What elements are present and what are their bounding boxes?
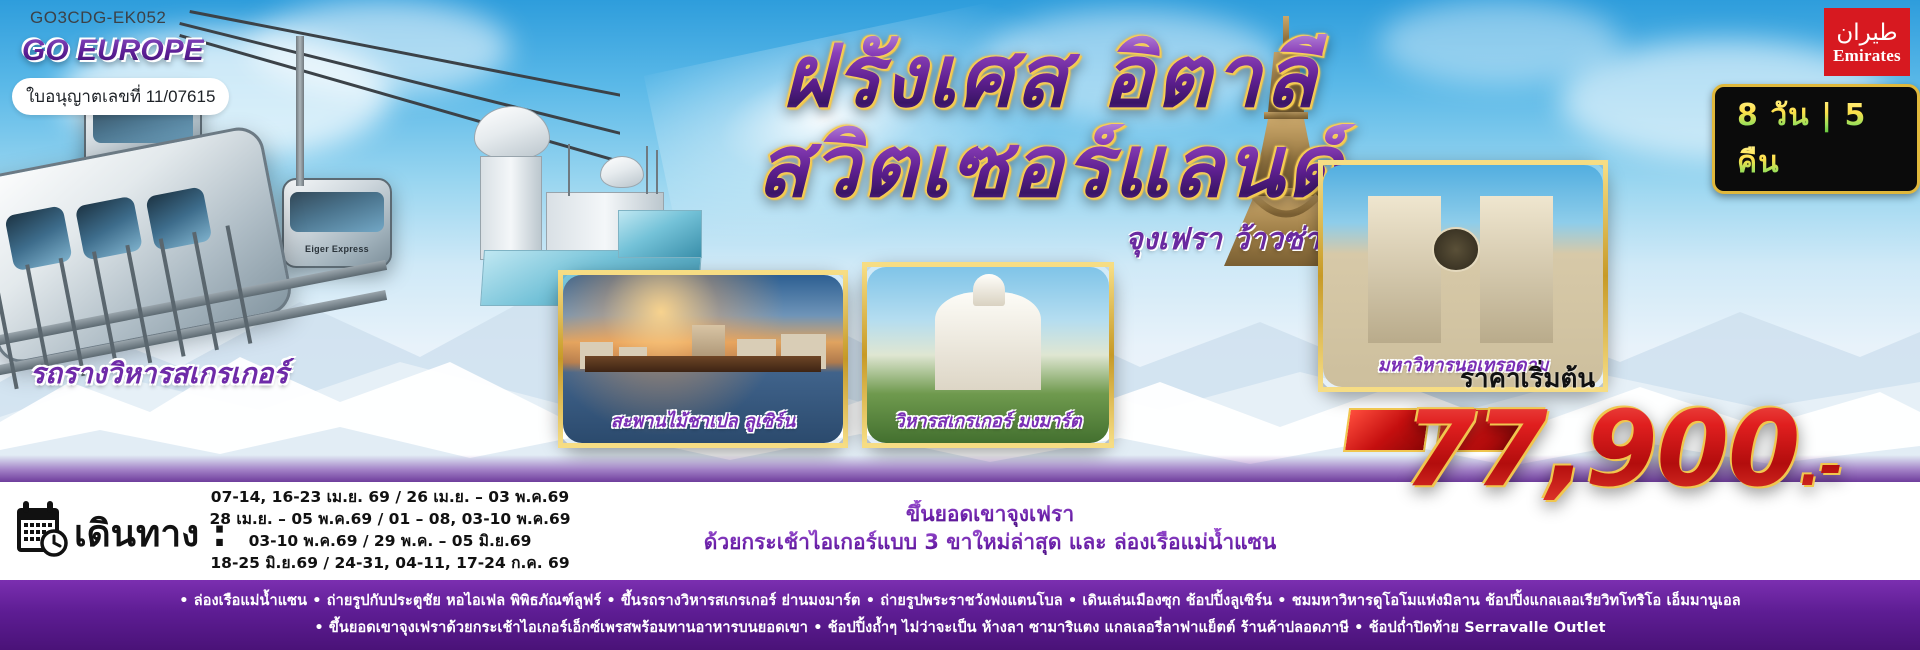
photo-card-sacre-coeur: วิหารสเกรเกอร์ มงมาร์ต bbox=[862, 262, 1114, 448]
basilica-dome bbox=[973, 274, 1004, 306]
photo-card-lucerne: สะพานไม้ชาเปล ลูเซิร์น bbox=[558, 270, 848, 448]
chapel-bridge bbox=[585, 356, 820, 373]
cable-tower bbox=[296, 36, 304, 186]
highlights-line-2: • ขึ้นยอดเขาจุงเฟราด้วยกระเช้าไอเกอร์เอ็… bbox=[314, 615, 1605, 642]
photo-card-caption: สะพานไม้ชาเปล ลูเซิร์น bbox=[563, 406, 843, 435]
cathedral-tower-left bbox=[1368, 196, 1441, 343]
travel-date-line: 28 เม.ย. – 05 พ.ค.69 / 01 – 08, 03-10 พ.… bbox=[190, 508, 590, 530]
observatory-dome bbox=[474, 106, 550, 160]
duration-badge-label: 8 วัน | 5 คืน bbox=[1737, 98, 1866, 180]
title-line-1: ฝรั่งเศส อิตาลี bbox=[600, 34, 1500, 120]
travel-dates-list: 07-14, 16-23 เม.ย. 69 / 26 เม.ย. – 03 พ.… bbox=[190, 486, 590, 574]
basilica-body bbox=[935, 292, 1041, 391]
emirates-calligraphy-icon: طيران bbox=[1836, 22, 1897, 45]
calendar-clock-icon bbox=[14, 500, 68, 558]
duration-badge: 8 วัน | 5 คืน bbox=[1712, 84, 1920, 194]
rose-window bbox=[1432, 227, 1480, 271]
price-unit: .- bbox=[1799, 434, 1842, 499]
price-value: 77,900 bbox=[1404, 388, 1799, 510]
caption-schynige-platte: รถรางวิหารสเกรเกอร์ bbox=[30, 352, 288, 396]
antenna bbox=[568, 144, 570, 196]
promo-line-1: ขึ้นยอดเขาจุงเฟรา bbox=[600, 500, 1380, 528]
cathedral-tower-right bbox=[1480, 196, 1553, 343]
highlights-bar: • ล่องเรือแม่น้ำแซน • ถ่ายรูปกับประตูชัย… bbox=[0, 580, 1920, 650]
promo-line-2: ด้วยกระเช้าไอเกอร์แบบ 3 ขาใหม่ล่าสุด และ… bbox=[600, 528, 1380, 556]
photo-card-caption: วิหารสเกรเกอร์ มงมาร์ต bbox=[867, 406, 1109, 435]
observatory-tower bbox=[480, 156, 542, 260]
highlights-line-1: • ล่องเรือแม่น้ำแซน • ถ่ายรูปกับประตูชัย… bbox=[179, 588, 1741, 615]
travel-date-line: 03-10 พ.ค.69 / 29 พ.ค. – 05 มิ.ย.69 bbox=[190, 530, 590, 552]
emirates-logo: طيران Emirates bbox=[1824, 8, 1910, 76]
emirates-wordmark: Emirates bbox=[1833, 46, 1901, 66]
travel-date-line: 18-25 มิ.ย.69 / 24-31, 04-11, 17-24 ก.ค.… bbox=[190, 552, 590, 574]
price-amount: 77,900.- bbox=[1404, 388, 1842, 510]
travel-date-line: 07-14, 16-23 เม.ย. 69 / 26 เม.ย. – 03 พ.… bbox=[190, 486, 590, 508]
product-code: GO3CDG-EK052 bbox=[30, 8, 166, 28]
brand-logo-text: GO EUROPE bbox=[22, 34, 204, 68]
promo-text: ขึ้นยอดเขาจุงเฟรา ด้วยกระเช้าไอเกอร์แบบ … bbox=[600, 500, 1380, 557]
license-number: ใบอนุญาตเลขที่ 11/07615 bbox=[12, 78, 229, 115]
